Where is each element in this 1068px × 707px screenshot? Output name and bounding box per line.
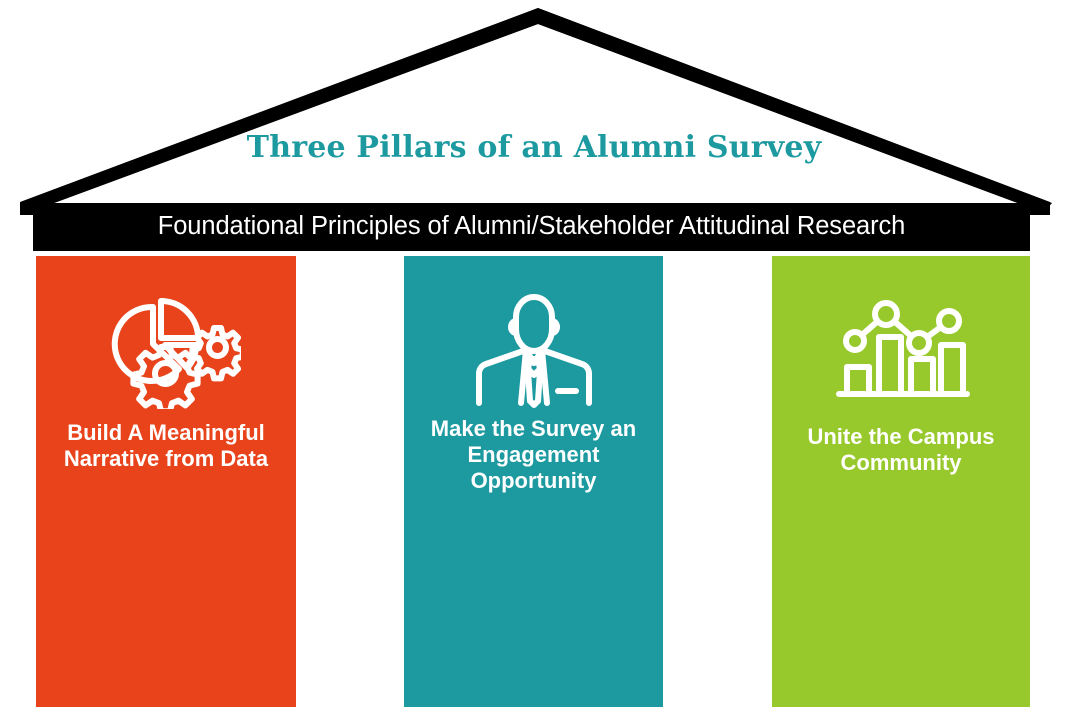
banner-subtitle: Foundational Principles of Alumni/Stakeh… [158,214,906,240]
pillar-engagement-opportunity: Make the Survey an Engagement Opportunit… [404,256,663,707]
pillar-label-unite-campus: Unite the Campus Community [799,424,1002,476]
banner: Foundational Principles of Alumni/Stakeh… [33,203,1030,251]
businessperson-icon [464,280,604,410]
page-title: Three Pillars of an Alumni Survey [0,133,1068,163]
pillar-unite-campus: Unite the Campus Community [772,256,1030,707]
pillar-build-narrative: Build A Meaningful Narrative from Data [36,256,296,707]
roof-shape [0,0,1068,215]
bar-line-chart-icon [831,280,971,410]
pie-chart-gears-icon [91,280,241,410]
infographic-canvas: Three Pillars of an Alumni Survey Founda… [0,0,1068,707]
pillar-label-engagement-opportunity: Make the Survey an Engagement Opportunit… [423,416,644,494]
pillar-label-build-narrative: Build A Meaningful Narrative from Data [56,420,276,472]
